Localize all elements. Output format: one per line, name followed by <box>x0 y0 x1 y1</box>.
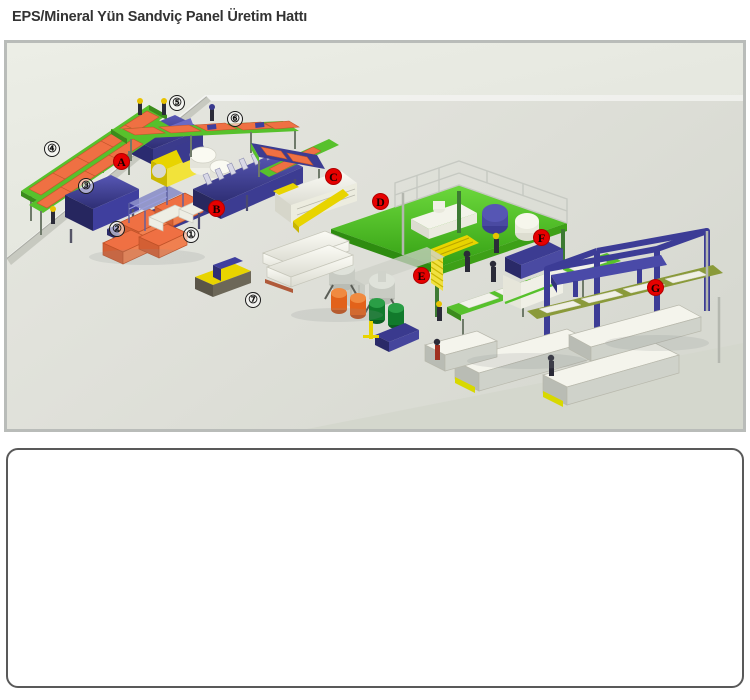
marker-g[interactable]: G <box>647 279 664 296</box>
marker-5[interactable]: ⑤ <box>169 95 185 111</box>
marker-4[interactable]: ④ <box>44 141 60 157</box>
marker-1[interactable]: ① <box>183 227 199 243</box>
marker-2[interactable]: ② <box>109 221 125 237</box>
page-title: EPS/Mineral Yün Sandviç Panel Üretim Hat… <box>12 9 307 25</box>
marker-d[interactable]: D <box>372 193 389 210</box>
marker-7[interactable]: ⑦ <box>245 292 261 308</box>
notes-panel <box>6 448 744 688</box>
production-line-diagram-panel: A B C D E F G ① ② ③ ④ ⑤ ⑥ ⑦ <box>4 40 746 432</box>
notes-panel-text <box>8 450 742 470</box>
marker-c[interactable]: C <box>325 168 342 185</box>
marker-f[interactable]: F <box>533 229 550 246</box>
marker-3[interactable]: ③ <box>78 178 94 194</box>
marker-b[interactable]: B <box>208 200 225 217</box>
marker-e[interactable]: E <box>413 267 430 284</box>
marker-a[interactable]: A <box>113 153 130 170</box>
diagram-stage: A B C D E F G ① ② ③ ④ ⑤ ⑥ ⑦ <box>7 43 743 429</box>
marker-6[interactable]: ⑥ <box>227 111 243 127</box>
